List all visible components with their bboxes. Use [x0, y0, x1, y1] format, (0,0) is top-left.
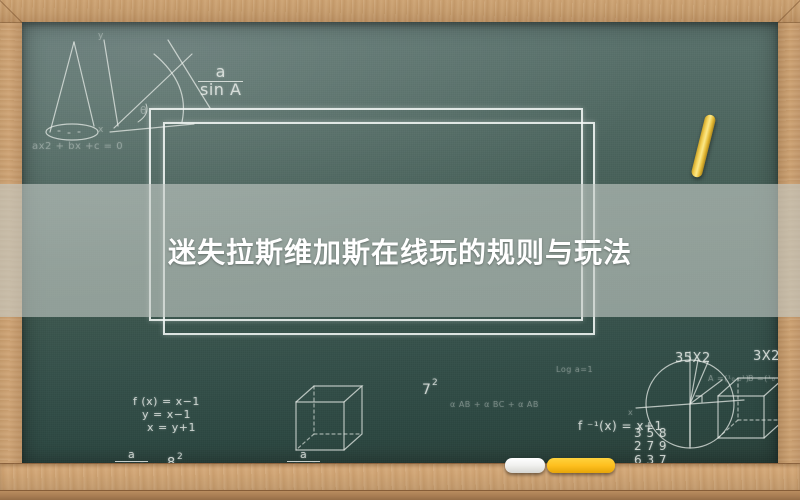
angle-cross-line: [168, 40, 210, 108]
cone-base-ellipse: [46, 124, 98, 140]
chalkboard-banner: a sin A ax2 + bx +c = 0 y x θ f (x) = x−…: [0, 0, 800, 500]
chalk-power-seven: 7: [422, 382, 431, 398]
frame-miter-top-right: [775, 0, 800, 26]
cone-right-edge: [74, 42, 94, 126]
angle-axis-y: [104, 40, 118, 126]
chalk-subtraction-row-2: 2 7 9: [634, 439, 667, 453]
chalk-quadratic: ax2 + bx +c = 0: [32, 141, 123, 152]
chalk-segment-sum: α AB + α BC + α AB: [450, 400, 539, 409]
page-title: 迷失拉斯维加斯在线玩的规则与玩法: [0, 184, 800, 317]
chalk-tray-lip: [0, 490, 800, 500]
chalk-law-of-sines-1: a sin A: [198, 64, 243, 99]
cube-right: [718, 378, 778, 438]
chalk-axis-x-label: x: [98, 125, 104, 135]
chalk-multiply-35x2: 35X2: [675, 351, 711, 366]
chalk-power-seven-exponent: 2: [432, 378, 438, 388]
chalk-matrix-b: B =(¹₀ ₀¹): [748, 374, 778, 383]
chalk-power-eight-exponent: 2: [177, 452, 183, 462]
chalk-angle-theta: θ: [140, 104, 147, 117]
chalk-circle-axis-x-label: x: [628, 408, 633, 417]
chalk-function-1: f (x) = x−1: [133, 395, 200, 408]
chalk-law-of-sines-2: a sin A: [115, 449, 148, 464]
cone-left-edge: [50, 42, 74, 132]
chalk-matrix-a: A =(¹₀ ₀¹): [708, 374, 749, 383]
chalk-inverse-function: f ⁻¹(x) = x+1: [578, 419, 663, 433]
chalk-tray: [0, 463, 800, 500]
chalk-function-2: y = x−1: [142, 408, 191, 421]
chalk-multiply-3x2: 3X2: [753, 349, 778, 364]
yellow-chalk-stick: [547, 458, 615, 473]
angle-arc-inner: [138, 104, 147, 122]
cube-left: [296, 386, 362, 450]
chalk-function-3: x = y+1: [147, 421, 196, 434]
chalk-log-a1: Log a=1: [556, 365, 593, 374]
circle-diagram: [636, 352, 744, 448]
chalk-law-of-sines-3: a sin A: [287, 449, 320, 464]
chalk-axis-y-label: y: [98, 31, 104, 41]
frame-top-rail: [0, 0, 800, 23]
cone-base-dashes: [58, 131, 83, 133]
chalk-subtraction-row-1: 3 5 8: [634, 426, 667, 440]
chalk-stick-on-board: [690, 114, 716, 179]
white-chalk-stick: [505, 458, 545, 473]
